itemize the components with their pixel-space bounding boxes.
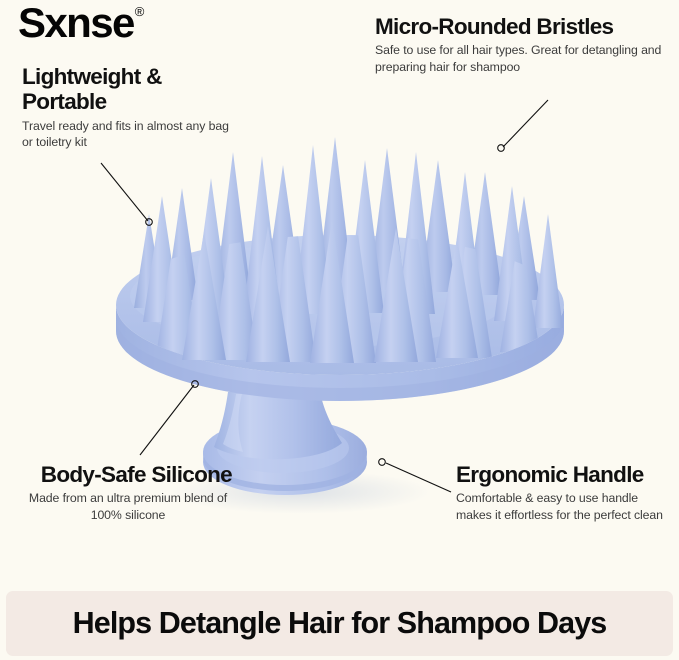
brand-name: Sxnse — [18, 2, 134, 44]
banner-text: Helps Detangle Hair for Shampoo Days — [73, 606, 607, 641]
callout-micro-rounded-bristles: Micro-Rounded Bristles Safe to use for a… — [375, 14, 665, 75]
callout-lightweight: Lightweight & Portable Travel ready and … — [22, 64, 237, 150]
callout-title: Body-Safe Silicone — [24, 462, 232, 487]
callout-title: Ergonomic Handle — [456, 462, 676, 487]
brand-logo: Sxnse ® — [18, 2, 144, 44]
callout-title: Micro-Rounded Bristles — [375, 14, 665, 39]
callout-body: Made from an ultra premium blend of 100%… — [24, 490, 232, 522]
callout-body-safe-silicone: Body-Safe Silicone Made from an ultra pr… — [24, 462, 232, 523]
callout-ergonomic-handle: Ergonomic Handle Comfortable & easy to u… — [456, 462, 676, 523]
callout-title: Lightweight & Portable — [22, 64, 237, 115]
product-infographic: Sxnse ® Lightweight & Portable Travel re… — [0, 0, 679, 660]
registered-trademark-icon: ® — [135, 5, 145, 18]
bottom-banner: Helps Detangle Hair for Shampoo Days — [6, 591, 673, 656]
callout-body: Comfortable & easy to use handle makes i… — [456, 490, 676, 522]
callout-body: Safe to use for all hair types. Great fo… — [375, 42, 665, 74]
callout-body: Travel ready and fits in almost any bag … — [22, 118, 237, 150]
